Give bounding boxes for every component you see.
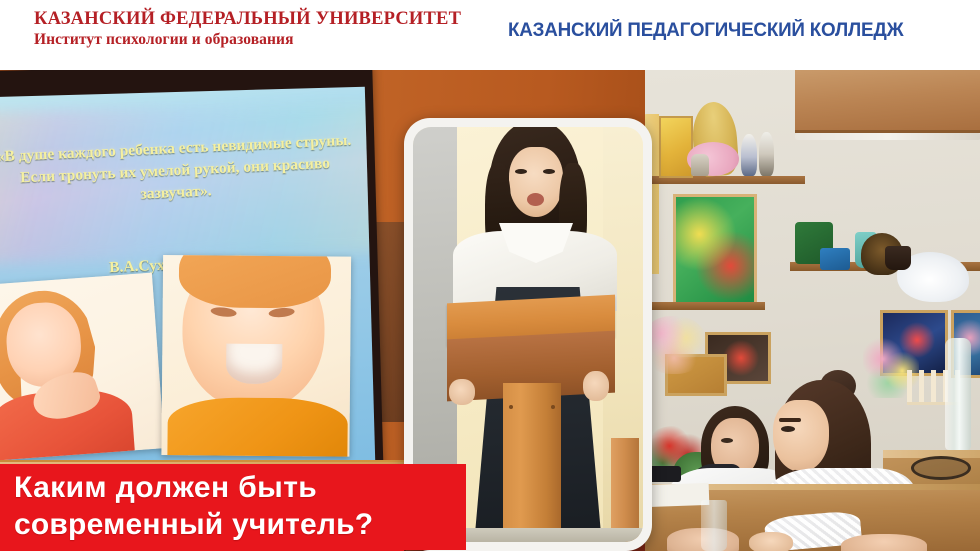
podium-screw-right (551, 405, 555, 409)
projector-screen: «В душе каждого ребенка есть невидимые с… (0, 87, 375, 476)
lower-shelf (645, 302, 765, 310)
craft-picture-card (659, 116, 693, 178)
desk-ring-object (911, 456, 971, 480)
wooden-post (611, 438, 639, 542)
wall-cabinet (795, 70, 980, 133)
student-b-eyebrow (779, 418, 801, 422)
plastic-cup (701, 500, 727, 551)
child-photo-girl (0, 273, 165, 462)
fluorescent-lamp (795, 133, 980, 140)
projector-screen-frame: «В душе каждого ребенка есть невидимые с… (0, 70, 384, 492)
paper-on-desk (645, 483, 709, 507)
university-name: КАЗАНСКИЙ ФЕДЕРАЛЬНЫЙ УНИВЕРСИТЕТ (34, 10, 461, 30)
boy-smile (226, 344, 282, 384)
speaker-face (509, 147, 563, 217)
university-title-block: КАЗАНСКИЙ ФЕДЕРАЛЬНЫЙ УНИВЕРСИТЕТ Инстит… (34, 10, 461, 49)
small-pot (691, 154, 709, 176)
header-band: КАЗАНСКИЙ ФЕДЕРАЛЬНЫЙ УНИВЕРСИТЕТ Инстит… (0, 0, 980, 70)
speaker-hand-right (583, 371, 609, 401)
water-bottle (945, 338, 971, 450)
presentation-slide-image: КАЗАНСКИЙ ФЕДЕРАЛЬНЫЙ УНИВЕРСИТЕТ Инстит… (0, 0, 980, 551)
boy-hair (179, 255, 332, 308)
institute-name: Институт психологии и образования (34, 32, 461, 49)
dark-flowerpot (885, 246, 911, 270)
photo-canvas: «В душе каждого ребенка есть невидимые с… (0, 70, 980, 551)
blue-craft-box (820, 248, 850, 270)
student-b-hand (749, 532, 793, 551)
flower-bouquet (645, 316, 707, 374)
figurine-b (759, 132, 774, 176)
student-a-eye (721, 438, 733, 443)
podium-screw-left (509, 405, 513, 409)
banner-line-2: современный учитель? (14, 507, 466, 544)
question-banner: Каким должен быть современный учитель? (0, 464, 466, 550)
student-b-face (773, 400, 829, 472)
child-photo-boy (161, 255, 351, 457)
right-photo-classroom-scene (645, 70, 980, 551)
student-b-eye (781, 426, 795, 432)
framed-painting-green (673, 194, 757, 306)
boy-shirt (167, 397, 348, 457)
speaker-hand-left (449, 379, 475, 405)
foreground-hand (841, 534, 927, 551)
figurine-a (741, 134, 757, 176)
banner-line-1: Каким должен быть (14, 470, 466, 507)
speaker-eye-right (543, 169, 555, 174)
speaker-mouth (527, 193, 544, 206)
college-name: КАЗАНСКИЙ ПЕДАГОГИЧЕСКИЙ КОЛЛЕДЖ (508, 20, 903, 42)
speaker-eye-left (515, 169, 527, 174)
